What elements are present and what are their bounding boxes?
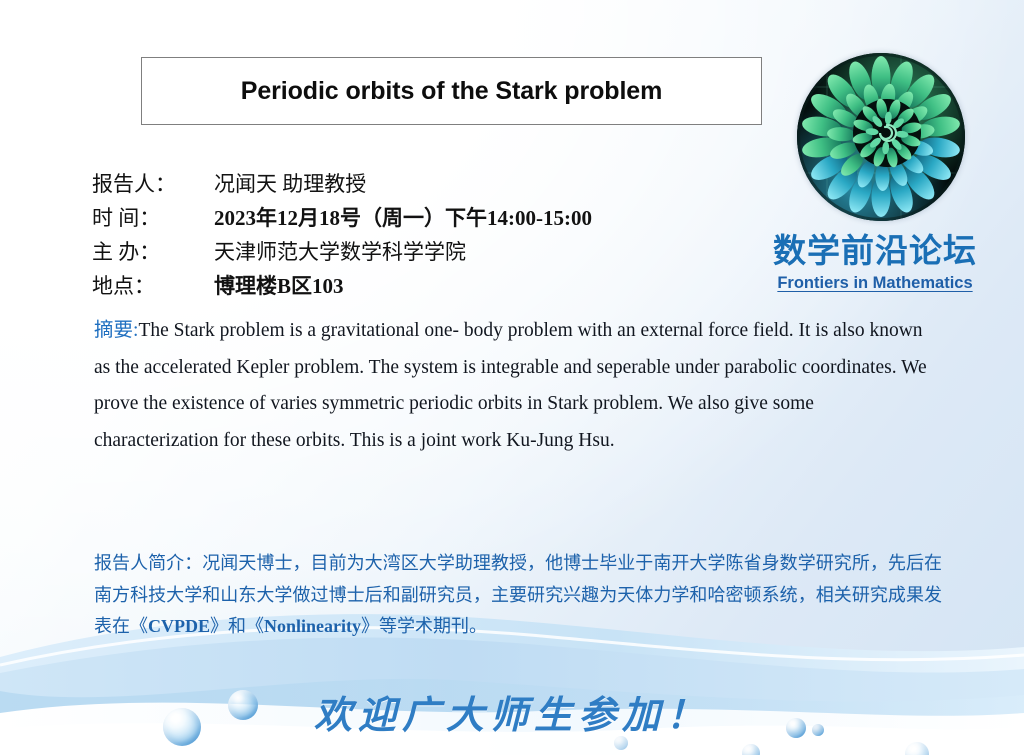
info-label-organizer: 主 办： <box>92 235 214 269</box>
speaker-bio-section: 报告人简介：况闻天博士，目前为大湾区大学助理教授，他博士毕业于南开大学陈省身数学… <box>94 548 942 643</box>
brand-name-en: Frontiers in Mathematics <box>760 274 990 293</box>
info-row-time: 时 间： 2023年12月18号（周一）下午14:00-15:00 <box>92 201 592 235</box>
info-row-venue: 地点： 博理楼B区103 <box>92 269 592 303</box>
event-info-block: 报告人： 况闻天 助理教授 时 间： 2023年12月18号（周一）下午14:0… <box>92 167 592 303</box>
brand-name-cn: 数学前沿论坛 <box>760 224 990 272</box>
abstract-text: The Stark problem is a gravitational one… <box>94 320 927 451</box>
bio-label: 报告人简介： <box>94 553 202 573</box>
forum-logo <box>797 53 965 221</box>
bubble-decoration <box>742 744 760 755</box>
title-box: Periodic orbits of the Stark problem <box>141 57 762 125</box>
info-label-speaker: 报告人： <box>92 167 214 201</box>
info-value-speaker: 况闻天 助理教授 <box>214 167 366 201</box>
info-value-organizer: 天津师范大学数学科学学院 <box>214 235 466 269</box>
page-title: Periodic orbits of the Stark problem <box>241 77 662 106</box>
poster-canvas: Periodic orbits of the Stark problem <box>0 0 1024 755</box>
bio-journal-cvpde: CVPDE <box>148 616 210 636</box>
welcome-banner-text: 欢迎广大师生参加！ <box>0 684 1024 739</box>
abstract-label: 摘要 <box>94 320 133 341</box>
info-label-time: 时 间： <box>92 201 214 235</box>
info-row-speaker: 报告人： 况闻天 助理教授 <box>92 167 592 201</box>
bio-text-mid: 》和《 <box>210 616 264 636</box>
info-label-venue: 地点： <box>92 269 214 303</box>
abstract-section: 摘要:The Stark problem is a gravitational … <box>94 313 939 459</box>
info-value-time: 2023年12月18号（周一）下午14:00-15:00 <box>214 201 592 235</box>
info-row-organizer: 主 办： 天津师范大学数学科学学院 <box>92 235 592 269</box>
info-value-venue: 博理楼B区103 <box>214 269 344 303</box>
bio-text-part2: 》等学术期刊。 <box>361 616 487 636</box>
bio-journal-nonlinearity: Nonlinearity <box>264 616 361 636</box>
bubble-decoration <box>905 742 929 755</box>
spiral-logo-svg <box>797 53 965 221</box>
spiral-logo-icon <box>797 53 965 221</box>
